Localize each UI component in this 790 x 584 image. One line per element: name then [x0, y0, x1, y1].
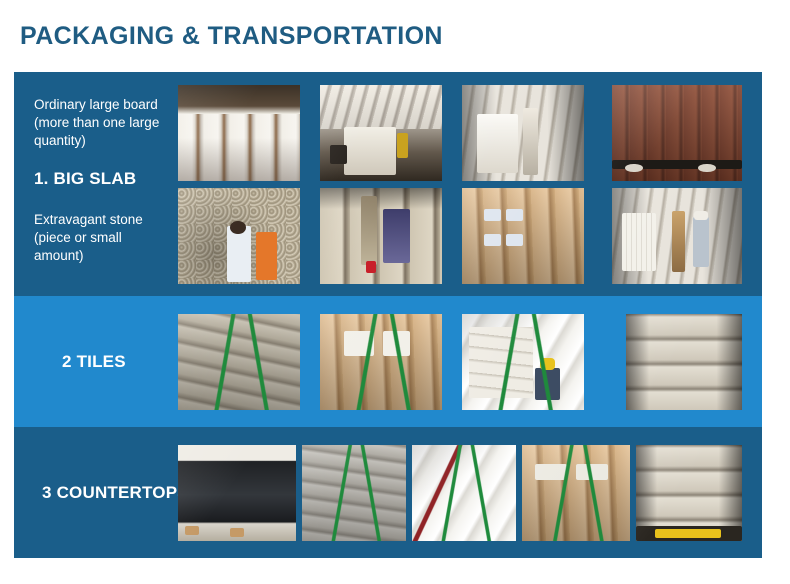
- big-slab-subtitle-bottom: Extravagant stone (piece or small amount…: [34, 211, 168, 264]
- page-title: PACKAGING & TRANSPORTATION: [20, 22, 443, 51]
- photo-tile-crates-inside-container: [626, 314, 742, 410]
- photo-workers-handling-granite-slab: [178, 188, 300, 284]
- photo-truck-loading-slabs-in-warehouse: [320, 85, 442, 181]
- photo-wooden-crates-with-labels: [462, 188, 584, 284]
- tiles-heading: 2 TILES: [62, 352, 168, 372]
- big-slab-subtitle-top: Ordinary large board (more than one larg…: [34, 96, 168, 149]
- photo-wooden-crates-with-green-straps: [522, 445, 630, 541]
- photo-black-countertop-in-wooden-frame: [178, 445, 296, 541]
- slide-root: PACKAGING & TRANSPORTATION Ordinary larg…: [0, 0, 790, 584]
- photo-tile-crates-on-pallets: [320, 314, 442, 410]
- countertops-heading: 3 COUNTERTOPS: [42, 483, 168, 503]
- spacer: [34, 149, 168, 169]
- photo-rusty-shipping-container-on-truck: [612, 85, 742, 181]
- spacer: [34, 189, 168, 211]
- big-slab-heading: 1. BIG SLAB: [34, 169, 168, 189]
- section-countertops-labels: 3 COUNTERTOPS: [14, 427, 178, 558]
- section-countertops: 3 COUNTERTOPS: [14, 427, 762, 558]
- photo-worker-inside-container-with-crates: [612, 188, 742, 284]
- photo-wrapped-tile-crates-being-loaded: [462, 314, 584, 410]
- photo-white-wrapped-bundle-with-straps: [412, 445, 516, 541]
- section-big-slab-labels: Ordinary large board (more than one larg…: [14, 72, 178, 296]
- photo-slabs-loaded-inside-container: [462, 85, 584, 181]
- photo-crates-loaded-inside-container: [636, 445, 742, 541]
- photo-warehouse-white-slab-bundles: [178, 85, 300, 181]
- section-big-slab: Ordinary large board (more than one larg…: [14, 72, 762, 296]
- photo-slab-showroom-gantry-lifting: [320, 188, 442, 284]
- content-panel: Ordinary large board (more than one larg…: [14, 72, 762, 558]
- photo-strapped-tile-pallet-closeup: [178, 314, 300, 410]
- section-tiles: 2 TILES: [14, 296, 762, 427]
- photo-grey-countertop-slabs-strapped: [302, 445, 406, 541]
- section-tiles-labels: 2 TILES: [14, 296, 178, 427]
